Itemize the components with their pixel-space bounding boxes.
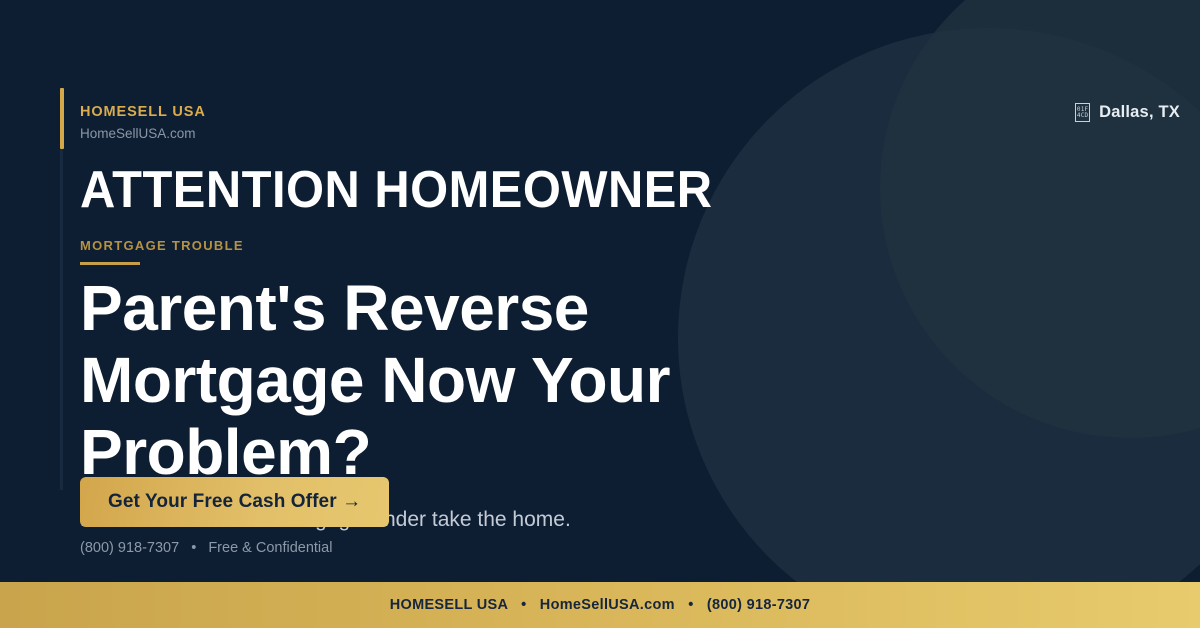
brand-website: HomeSellUSA.com xyxy=(80,126,206,141)
footer-website[interactable]: HomeSellUSA.com xyxy=(540,597,675,613)
location-pin-icon: 01F 4CD xyxy=(1075,103,1090,122)
eyebrow-block: MORTGAGE TROUBLE xyxy=(80,238,244,265)
cta-free-cash-offer-button[interactable]: Get Your Free Cash Offer → xyxy=(80,477,389,527)
main-headline: Parent's Reverse Mortgage Now Your Probl… xyxy=(80,272,840,488)
contact-line: (800) 918-7307 • Free & Confidential xyxy=(80,540,332,556)
eyebrow-underline xyxy=(80,262,140,265)
location-badge: 01F 4CD Dallas, TX xyxy=(1075,103,1180,122)
location-label: Dallas, TX xyxy=(1099,103,1180,122)
hero-content: HOMESELL USA HomeSellUSA.com 01F 4CD Dal… xyxy=(80,0,1120,582)
brand-name: HOMESELL USA xyxy=(80,104,206,120)
footer-brand: HOMESELL USA xyxy=(390,597,508,613)
left-rail-accent xyxy=(60,88,64,149)
contact-separator: • xyxy=(183,540,204,556)
footer-content: HOMESELL USA • HomeSellUSA.com • (800) 9… xyxy=(390,597,811,613)
footer-separator-one: • xyxy=(512,597,535,613)
brand-block: HOMESELL USA HomeSellUSA.com xyxy=(80,104,206,141)
footer-bar: HOMESELL USA • HomeSellUSA.com • (800) 9… xyxy=(0,582,1200,628)
attention-headline: ATTENTION HOMEOWNER xyxy=(80,160,713,220)
footer-phone[interactable]: (800) 918-7307 xyxy=(707,597,810,613)
tofu-codepoint-bottom: 4CD xyxy=(1077,113,1088,119)
ad-creative-canvas: HOMESELL USA HomeSellUSA.com 01F 4CD Dal… xyxy=(0,0,1200,628)
contact-phone[interactable]: (800) 918-7307 xyxy=(80,540,179,556)
eyebrow-label: MORTGAGE TROUBLE xyxy=(80,238,244,253)
footer-separator-two: • xyxy=(679,597,702,613)
contact-note: Free & Confidential xyxy=(208,540,332,556)
